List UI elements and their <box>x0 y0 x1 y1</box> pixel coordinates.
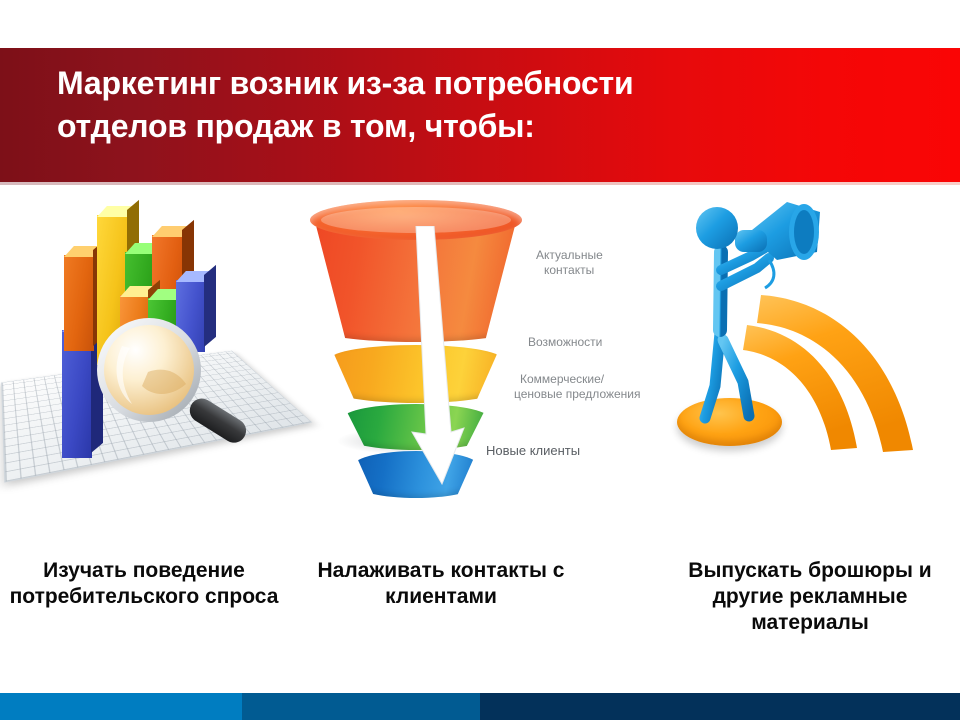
megaphone-figure-svg <box>665 190 960 490</box>
column-customer-contacts: Актуальные контакты Возможности Коммерче… <box>300 190 670 490</box>
caption-customer-contacts: Налаживать контакты с клиентами <box>300 558 582 610</box>
sales-funnel-icon: Актуальные контакты Возможности Коммерче… <box>300 190 670 490</box>
magnifier-icon <box>86 312 276 472</box>
footer-accent-bar <box>0 693 960 720</box>
figure-head <box>696 207 738 249</box>
slide-title-line-1: Маркетинг возник из-за потребности <box>57 62 920 105</box>
caption-promo-materials: Выпускать брошюры и другие рекламные мат… <box>660 558 960 636</box>
funnel-label-commercial-offers-line1: Коммерческие/ <box>520 372 604 387</box>
slide-title-line-2: отделов продаж в том, чтобы: <box>57 105 920 148</box>
footer-segment-light <box>0 693 242 720</box>
footer-segment-medium <box>242 693 480 720</box>
funnel-label-opportunities: Возможности <box>528 335 602 350</box>
banner-underline-divider <box>0 182 960 185</box>
funnel-label-new-clients: Новые клиенты <box>486 443 580 458</box>
slide-title-banner: Маркетинг возник из-за потребности отдел… <box>0 48 960 182</box>
funnel-label-actual-contacts-line2: контакты <box>544 263 594 278</box>
column-promo-materials <box>665 190 960 490</box>
caption-market-research: Изучать поведение потребительского спрос… <box>0 558 288 610</box>
funnel-arrow-icon <box>404 226 474 488</box>
footer-segment-dark <box>480 693 960 720</box>
megaphone-broadcast-icon <box>665 190 960 490</box>
funnel-label-group: Актуальные контакты Возможности Коммерче… <box>528 190 668 470</box>
bar-chart-magnifier-icon <box>0 190 300 500</box>
column-market-research <box>0 190 300 500</box>
funnel-label-commercial-offers-line2: ценовые предложения <box>514 387 641 402</box>
funnel-label-actual-contacts-line1: Актуальные <box>536 248 603 263</box>
